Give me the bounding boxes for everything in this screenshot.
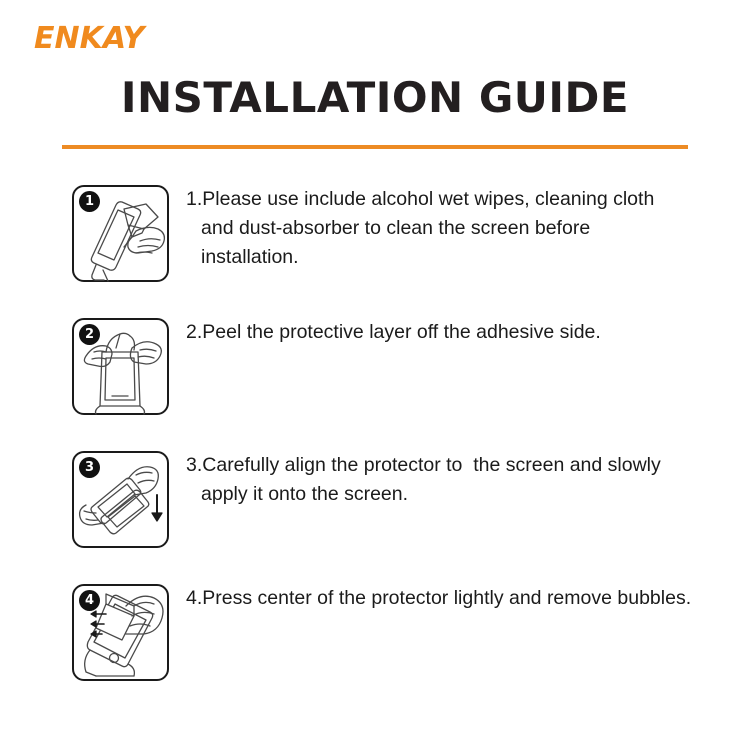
steps-list: 1 1.Please use include alcohol wet wipes… <box>0 180 750 712</box>
step-3-text: 3.Carefully align the protector to the s… <box>186 451 706 509</box>
step-3-badge: 3 <box>79 457 100 478</box>
step-4-badge: 4 <box>79 590 100 611</box>
step-1-figure: 1 <box>72 185 169 282</box>
step-2-badge: 2 <box>79 324 100 345</box>
step-1-badge: 1 <box>79 191 100 212</box>
step-1-text: 1.Please use include alcohol wet wipes, … <box>186 185 691 272</box>
step-2-figure: 2 <box>72 318 169 415</box>
step-row: 1 1.Please use include alcohol wet wipes… <box>0 180 750 313</box>
enkay-brand-logo: ENKAY <box>34 24 144 54</box>
installation-guide-page: ENKAY INSTALLATION GUIDE <box>0 0 750 750</box>
title-divider <box>62 145 688 149</box>
step-row: 3 3.Carefully align the protector to the… <box>0 446 750 579</box>
step-row: 4 4.Press center of the protector lightl… <box>0 579 750 712</box>
step-4-figure: 4 <box>72 584 169 681</box>
step-3-figure: 3 <box>72 451 169 548</box>
step-row: 2 2.Peel the protective layer off the ad… <box>0 313 750 446</box>
step-4-text: 4.Press center of the protector lightly … <box>186 584 706 613</box>
step-2-text: 2.Peel the protective layer off the adhe… <box>186 318 691 347</box>
page-title: INSTALLATION GUIDE <box>0 76 750 120</box>
